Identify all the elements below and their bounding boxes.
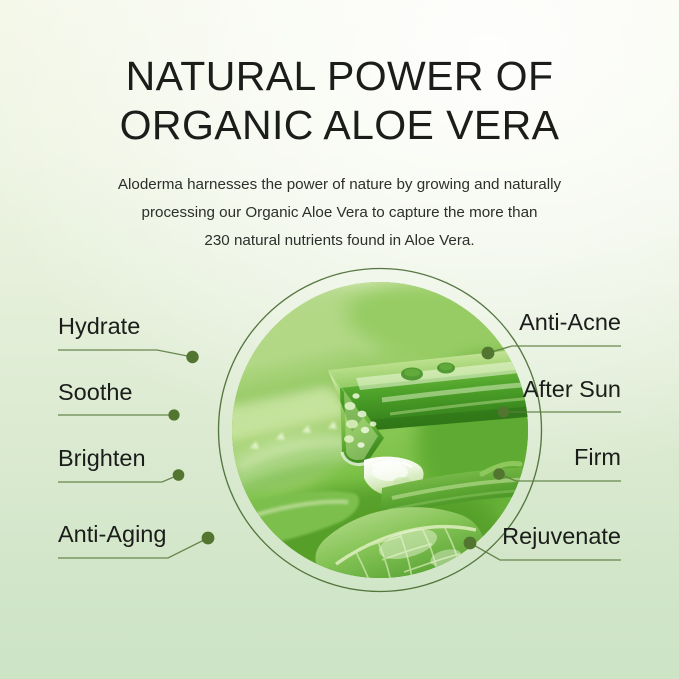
benefit-label-brighten: Brighten bbox=[58, 445, 146, 472]
node-soothe bbox=[168, 409, 179, 420]
connector-brighten bbox=[58, 475, 179, 482]
connector-anti-acne bbox=[488, 346, 621, 353]
benefit-label-anti-acne: Anti-Acne bbox=[519, 309, 621, 336]
aloe-vera-infographic: NATURAL POWER OF ORGANIC ALOE VERA Alode… bbox=[0, 0, 679, 679]
benefit-label-after-sun: After Sun bbox=[523, 376, 621, 403]
connector-hydrate bbox=[58, 350, 193, 357]
node-rejuvenate bbox=[464, 537, 477, 550]
node-brighten bbox=[173, 469, 185, 481]
outer-ring bbox=[219, 269, 542, 592]
benefit-label-hydrate: Hydrate bbox=[58, 313, 140, 340]
benefit-label-anti-aging: Anti-Aging bbox=[58, 521, 166, 548]
benefit-label-soothe: Soothe bbox=[58, 379, 132, 406]
node-anti-acne bbox=[482, 347, 495, 360]
node-firm bbox=[493, 468, 505, 480]
connector-firm bbox=[499, 474, 621, 481]
benefit-label-rejuvenate: Rejuvenate bbox=[502, 523, 621, 550]
node-after-sun bbox=[498, 406, 509, 417]
node-anti-aging bbox=[202, 532, 215, 545]
benefit-label-firm: Firm bbox=[574, 444, 621, 471]
node-hydrate bbox=[186, 351, 198, 363]
